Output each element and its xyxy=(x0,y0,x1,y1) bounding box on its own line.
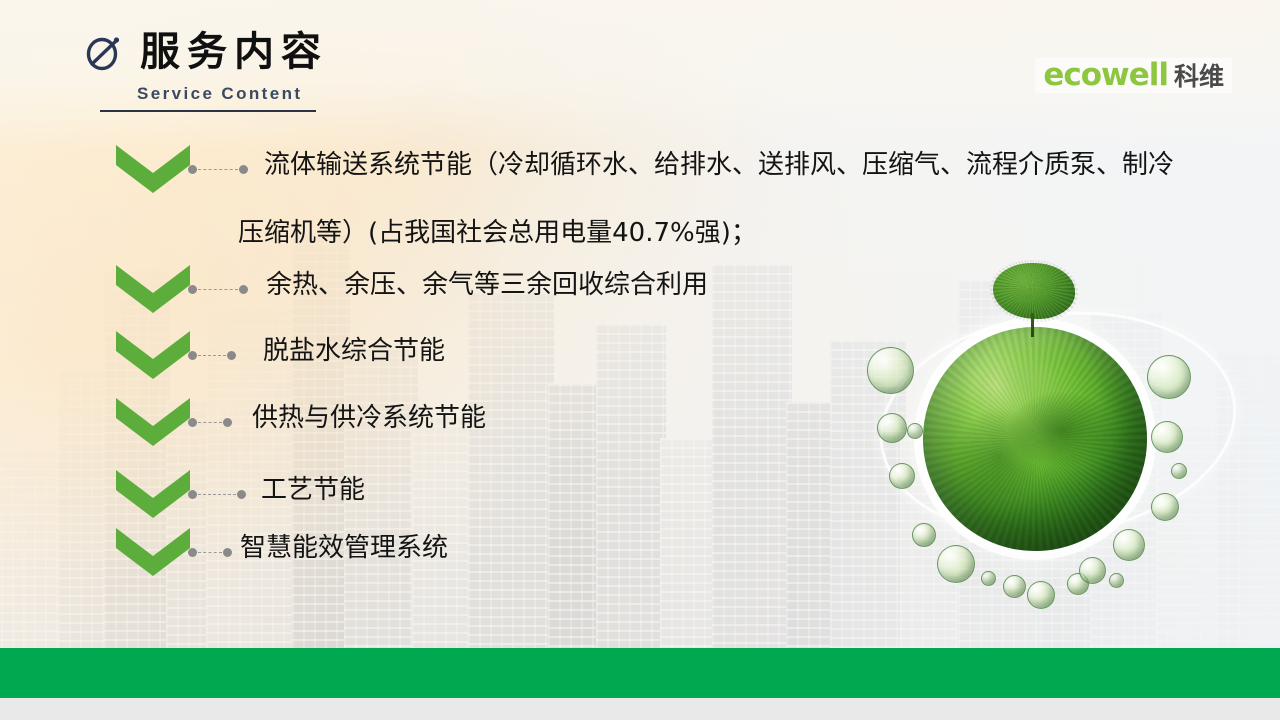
water-droplet xyxy=(889,463,915,489)
chevron-down-icon xyxy=(116,398,190,446)
connector-dot-right xyxy=(239,165,248,174)
connector-line xyxy=(188,488,246,500)
connector-dash xyxy=(198,355,226,356)
chevron-down-icon xyxy=(116,145,190,193)
connector-dot-right xyxy=(223,418,232,427)
connector-dot-right xyxy=(239,285,248,294)
company-logo: ecowell 科维 xyxy=(1035,58,1232,93)
chevron-down-icon xyxy=(116,528,190,576)
connector-dash xyxy=(198,552,222,553)
logo-text-en: ecowell xyxy=(1043,60,1168,91)
connector-dot-right xyxy=(237,490,246,499)
water-droplet xyxy=(1151,493,1179,521)
connector-line xyxy=(188,416,232,428)
logo-text-cn: 科维 xyxy=(1174,64,1224,89)
connector-line xyxy=(188,163,248,175)
connector-dash xyxy=(198,494,236,495)
page-title-cn: 服务内容 xyxy=(140,30,328,74)
water-droplet xyxy=(877,413,907,443)
water-droplet xyxy=(1147,355,1191,399)
list-item-text-line1: 流体输送系统节能（冷却循环水、给排水、送排风、压缩气、流程介质泵、制冷 xyxy=(264,152,1174,178)
title-underline xyxy=(100,110,316,112)
list-item-text-line2: 压缩机等）(占我国社会总用电量40.7%强)； xyxy=(238,220,757,246)
connector-dot-right xyxy=(227,351,236,360)
list-item-text-line1: 余热、余压、余气等三余回收综合利用 xyxy=(266,272,708,298)
bottom-footer-strip xyxy=(0,698,1280,720)
slide-root: 服务内容 Service Content ecowell 科维 流体输送系统节能… xyxy=(0,0,1280,720)
connector-dash xyxy=(198,289,238,290)
page-title-en: Service Content xyxy=(137,84,302,104)
water-droplet xyxy=(1079,557,1106,584)
slashed-circle-icon xyxy=(84,30,124,74)
tree-trunk xyxy=(1031,313,1034,337)
green-moss-globe xyxy=(923,327,1147,551)
connector-line xyxy=(188,283,248,295)
list-item-text-line1: 脱盐水综合节能 xyxy=(263,338,445,364)
connector-line xyxy=(188,546,232,558)
list-item-text-line1: 智慧能效管理系统 xyxy=(240,535,448,561)
water-droplet xyxy=(1109,573,1124,588)
water-droplet xyxy=(1171,463,1187,479)
water-droplet xyxy=(937,545,975,583)
connector-dot-left xyxy=(188,351,197,360)
connector-dash xyxy=(198,422,222,423)
connector-dot-left xyxy=(188,285,197,294)
water-droplet xyxy=(912,523,936,547)
tree-icon xyxy=(993,263,1075,319)
connector-dot-left xyxy=(188,418,197,427)
connector-dot-left xyxy=(188,165,197,174)
list-item-text-line1: 供热与供冷系统节能 xyxy=(252,405,486,431)
chevron-down-icon xyxy=(116,470,190,518)
connector-dot-right xyxy=(223,548,232,557)
connector-dot-left xyxy=(188,490,197,499)
connector-dot-left xyxy=(188,548,197,557)
water-droplet xyxy=(1003,575,1026,598)
water-droplet xyxy=(981,571,996,586)
page-title: 服务内容 xyxy=(84,30,328,74)
connector-dash xyxy=(198,169,238,170)
water-droplet xyxy=(867,347,914,394)
green-globe-illustration xyxy=(855,255,1255,645)
chevron-down-icon xyxy=(116,331,190,379)
bottom-green-band xyxy=(0,648,1280,698)
connector-line xyxy=(188,349,236,361)
water-droplet xyxy=(1151,421,1183,453)
slide-header: 服务内容 Service Content ecowell 科维 xyxy=(0,0,1280,130)
water-droplet xyxy=(1027,581,1055,609)
chevron-down-icon xyxy=(116,265,190,313)
water-droplet xyxy=(1113,529,1145,561)
list-item-text-line1: 工艺节能 xyxy=(261,477,365,503)
water-droplet xyxy=(907,423,923,439)
